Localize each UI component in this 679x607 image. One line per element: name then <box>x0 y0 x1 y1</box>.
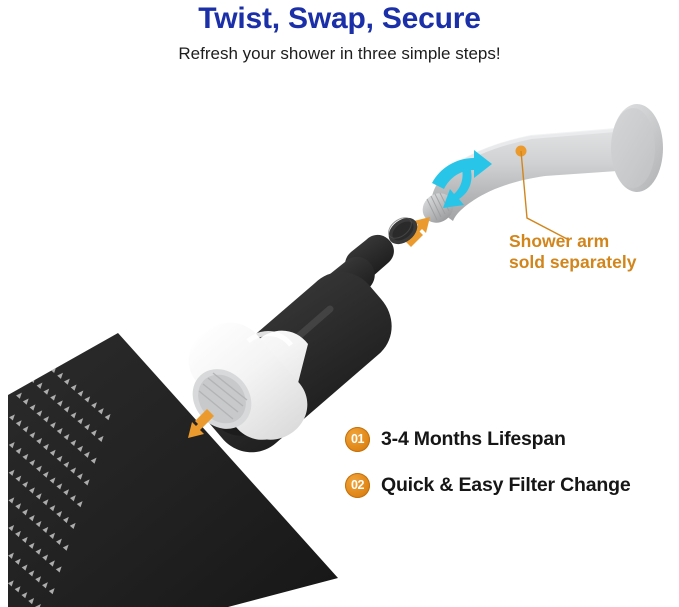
infographic-canvas: Twist, Swap, Secure Refresh your shower … <box>0 0 679 607</box>
product-illustration <box>0 0 679 607</box>
callout-line-2: sold separately <box>509 252 679 273</box>
shower-arm-callout: Shower arm sold separately <box>509 231 679 272</box>
feature-label-02: Quick & Easy Filter Change <box>381 474 630 497</box>
wall-flange <box>611 104 663 192</box>
callout-line-1: Shower arm <box>509 231 679 252</box>
feature-item-2: 02 Quick & Easy Filter Change <box>345 462 679 508</box>
feature-badge-01: 01 <box>345 427 370 452</box>
feature-badge-02: 02 <box>345 473 370 498</box>
feature-label-01: 3-4 Months Lifespan <box>381 428 566 451</box>
feature-list: 01 3-4 Months Lifespan 02 Quick & Easy F… <box>345 416 679 508</box>
feature-item-1: 01 3-4 Months Lifespan <box>345 416 679 462</box>
